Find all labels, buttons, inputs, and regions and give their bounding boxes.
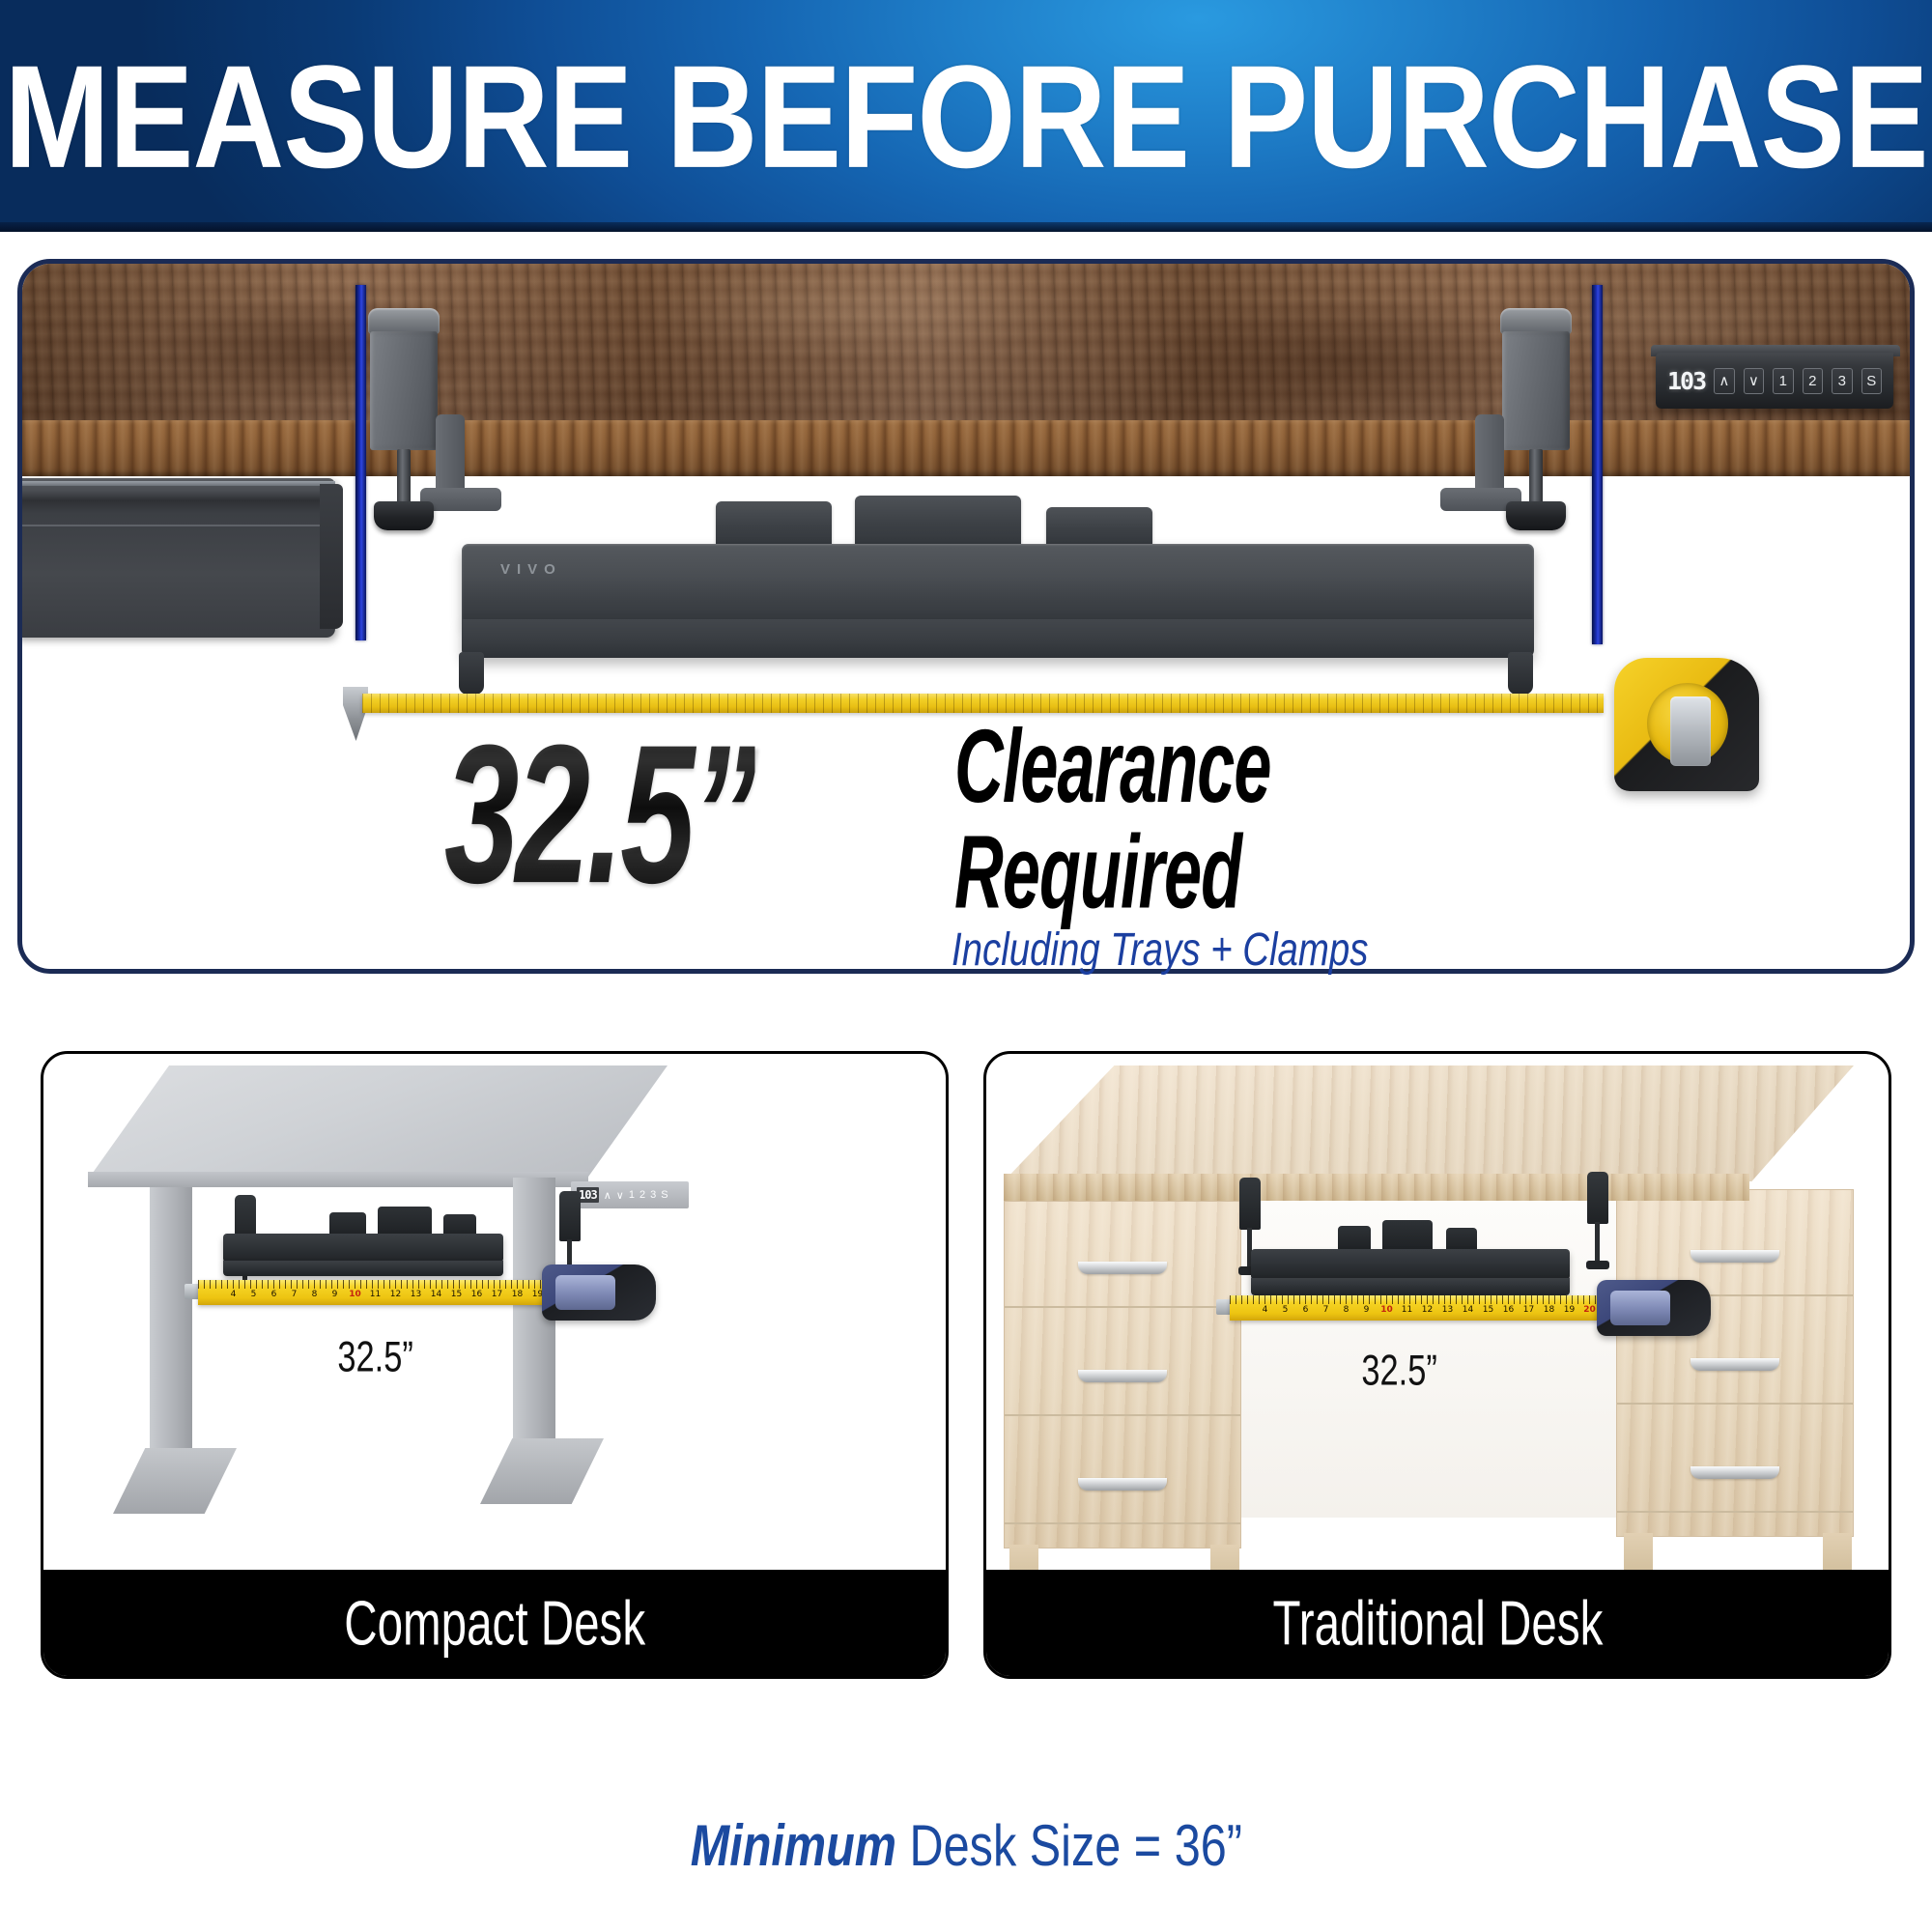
drawer-handle[interactable] [1690,1358,1779,1371]
tray-divider-fin [1338,1226,1371,1251]
tray-support-leg [1508,652,1533,695]
desk-pedestal-left [1004,1201,1241,1548]
clamp-rod [1595,1222,1600,1264]
standing-desk-leg [513,1178,555,1467]
page-title: MEASURE BEFORE PURCHASE [0,44,1932,190]
clamp-foot-pad [1506,501,1566,530]
desk-examples: 103 ∧ ∨ 1 2 3 S [0,1051,1932,1679]
clearance-headline-line1: Clearance [954,713,1271,819]
tape-measure-housing [542,1264,656,1321]
down-button[interactable]: ∨ [616,1189,624,1202]
desktop-surface [22,264,1910,420]
desk-control-panel[interactable]: 103 ∧ ∨ 1 2 3 S [1656,353,1893,409]
clamp-screw [397,449,411,505]
tray-clamp-right [1587,1172,1608,1224]
tray-divider-fin [1382,1220,1433,1251]
clamp-foot-pad [1586,1261,1609,1269]
clearance-subnote: Including Trays + Clamps [952,924,1368,977]
footer-rest: Desk Size = 36” [896,1813,1242,1878]
standing-desk-surface [88,1065,668,1179]
tape-measure-housing [1597,1280,1711,1336]
preset-1-button[interactable]: 1 [1773,368,1793,394]
height-display: 103 [1667,367,1705,395]
standing-desk-leg [150,1187,192,1477]
preset-3-button[interactable]: 3 [1832,368,1852,394]
tray-divider-fin [716,501,832,548]
desk-drawer-cabinet-side [320,484,343,629]
keyboard-tray [223,1234,503,1263]
set-button[interactable]: S [661,1189,668,1201]
clearance-headline: Clearance Required [954,713,1271,925]
dimension-label: 32.5” [1361,1347,1436,1395]
clamp-screw [1529,449,1543,505]
traditional-desk-illustration: 4567891011121314151617181920212223242526… [986,1054,1889,1576]
tape-measure-numbers: 4567891011121314151617181920212223242526… [198,1288,546,1301]
clamp-foot-pad [374,501,434,530]
desk-pedestal-right [1616,1189,1854,1537]
tray-clamp-right [559,1191,581,1241]
tape-measure-blade: 4567891011121314151617181920212223242526… [1230,1295,1601,1321]
preset-2-button[interactable]: 2 [1803,368,1823,394]
clamp-body [370,331,438,450]
preset-3-button[interactable]: 3 [650,1189,656,1201]
dimension-label: 32.5” [337,1333,412,1381]
keyboard-tray-front [223,1261,503,1276]
preset-2-button[interactable]: 2 [639,1189,645,1201]
preset-1-button[interactable]: 1 [629,1189,635,1201]
tray-divider-fin [855,496,1021,548]
card-label-compact-desk: Compact Desk [43,1570,946,1676]
desk-surface [1004,1065,1854,1181]
clamp-head-icon [1500,308,1572,334]
compact-desk-illustration: 103 ∧ ∨ 1 2 3 S [43,1054,946,1576]
clearance-headline-line2: Required [954,819,1271,925]
footer-emphasis: Minimum [690,1813,895,1878]
up-button[interactable]: ∧ [1714,368,1734,394]
tray-divider-fin [378,1207,432,1236]
desktop-edge [22,420,1910,476]
card-compact-desk: 103 ∧ ∨ 1 2 3 S [41,1051,949,1679]
clamp-head-icon [368,308,440,334]
footer-note: Minimum Desk Size = 36” [0,1816,1932,1876]
up-button[interactable]: ∧ [604,1189,611,1202]
measurement-guide-line-right [1592,285,1603,644]
desk-drawer[interactable] [1005,1202,1240,1308]
card-traditional-desk: 4567891011121314151617181920212223242526… [983,1051,1891,1679]
drawer-handle[interactable] [1078,1262,1167,1274]
tray-clamp-left [1239,1178,1261,1230]
standing-desk-foot [113,1448,237,1514]
tray-support-leg [459,652,484,695]
keyboard-tray-front [462,619,1534,658]
down-button[interactable]: ∨ [1744,368,1764,394]
desk-drawer[interactable] [1005,1418,1240,1524]
header-banner: MEASURE BEFORE PURCHASE [0,0,1932,232]
drawer-handle[interactable] [1078,1478,1167,1491]
desk-drawer-cabinet [17,478,335,638]
set-button[interactable]: S [1861,368,1882,394]
keyboard-tray [462,544,1534,623]
card-label-traditional-desk: Traditional Desk [986,1570,1889,1676]
tray-divider-fin [1446,1228,1477,1251]
compact-desk-control-panel[interactable]: 103 ∧ ∨ 1 2 3 S [571,1181,689,1208]
desk-drawer[interactable] [1617,1406,1853,1513]
tape-measure-blade: 4567891011121314151617181920212223242526… [198,1280,546,1305]
keyboard-tray [1251,1249,1570,1280]
measurement-guide-line-left [355,285,366,640]
drawer-handle[interactable] [1690,1250,1779,1263]
keyboard-tray-front [1251,1278,1570,1295]
vivo-logo: VIVO [500,561,562,578]
drawer-handle[interactable] [1078,1370,1167,1382]
tray-divider-fin [1046,507,1152,548]
tape-measure-numbers: 4567891011121314151617181920212223242526… [1230,1303,1601,1317]
standing-desk-foot [480,1438,604,1504]
clearance-callout: 32.5” Clearance Required Including Trays… [0,717,1932,862]
desk-edge [1004,1174,1749,1201]
desk-drawer[interactable] [1005,1310,1240,1416]
clamp-body [1502,331,1570,450]
clearance-measurement: 32.5” [444,717,755,914]
drawer-handle[interactable] [1690,1466,1779,1479]
